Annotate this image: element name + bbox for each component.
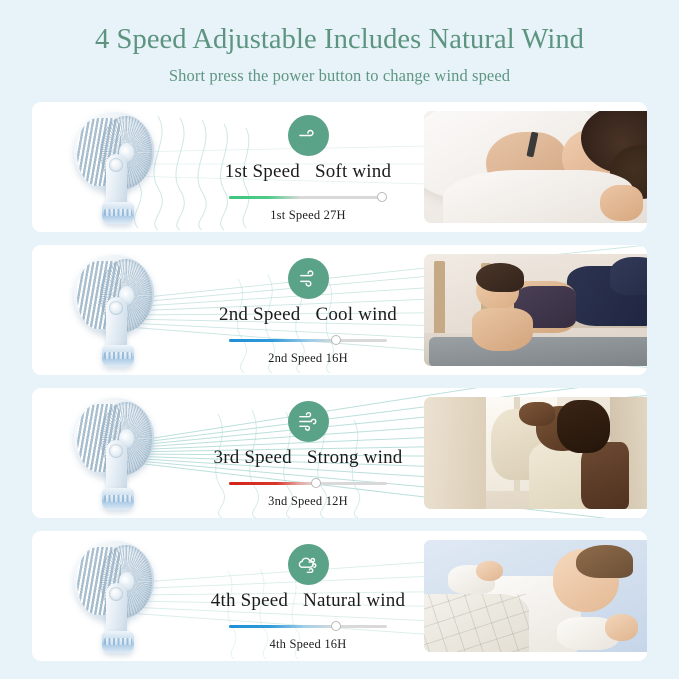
lifestyle-photo-baby-sleeping (424, 540, 647, 652)
speed-labels-3: 3rd Speed Strong wind (214, 447, 403, 469)
lifestyle-photo-wrap-3 (424, 388, 647, 518)
slider-knob[interactable] (377, 192, 387, 202)
fan-image-1 (32, 102, 192, 232)
runtime-caption-1: 1st Speed 27H (270, 208, 346, 223)
lifestyle-photo-wrap-1 (424, 102, 647, 232)
speed-info-2: 2nd Speed Cool wind 2nd Speed 16H (192, 245, 424, 375)
slider-fill (229, 339, 336, 342)
speed-info-1: 1st Speed Soft wind 1st Speed 27H (192, 102, 424, 232)
wind-type-label: Natural wind (303, 590, 405, 612)
slider-knob[interactable] (331, 621, 341, 631)
wind-triple-line-icon (288, 401, 329, 442)
fan-illustration (68, 253, 164, 369)
runtime-caption-2: 2nd Speed 16H (268, 351, 348, 366)
speed-info-3: 3rd Speed Strong wind 3nd Speed 12H (192, 388, 424, 518)
speed-card-list: 1st Speed Soft wind 1st Speed 27H (0, 102, 679, 661)
wind-type-label: Strong wind (307, 447, 403, 469)
product-feature-page: 4 Speed Adjustable Includes Natural Wind… (0, 0, 679, 679)
speed-info-4: 4th Speed Natural wind 4th Speed 16H (192, 531, 424, 661)
speed-level-label: 4th Speed (211, 590, 288, 612)
fan-illustration (68, 396, 164, 512)
page-title: 4 Speed Adjustable Includes Natural Wind (0, 24, 679, 55)
speed-slider-1[interactable] (229, 192, 387, 202)
speed-card-2: 2nd Speed Cool wind 2nd Speed 16H (32, 245, 647, 375)
speed-level-label: 2nd Speed (219, 304, 300, 326)
slider-fill (229, 482, 316, 485)
lifestyle-photo-woman-sleeping (424, 111, 647, 223)
lifestyle-photo-woman-wiping-forehead (424, 397, 647, 509)
speed-level-label: 1st Speed (225, 161, 300, 183)
fan-illustration (68, 110, 164, 226)
fan-base (102, 202, 134, 224)
lifestyle-photo-woman-plank (424, 254, 647, 366)
runtime-caption-3: 3nd Speed 12H (268, 494, 348, 509)
wind-double-line-icon (288, 258, 329, 299)
runtime-caption-4: 4th Speed 16H (270, 637, 347, 652)
lifestyle-photo-wrap-2 (424, 245, 647, 375)
fan-image-4 (32, 531, 192, 661)
wind-type-label: Cool wind (315, 304, 397, 326)
fan-base (102, 345, 134, 367)
slider-knob[interactable] (311, 478, 321, 488)
slider-fill (229, 625, 336, 628)
speed-labels-1: 1st Speed Soft wind (225, 161, 391, 183)
speed-slider-3[interactable] (229, 478, 387, 488)
speed-card-4: 4th Speed Natural wind 4th Speed 16H (32, 531, 647, 661)
page-subtitle: Short press the power button to change w… (0, 66, 679, 86)
slider-knob[interactable] (331, 335, 341, 345)
speed-slider-4[interactable] (229, 621, 387, 631)
fan-illustration (68, 539, 164, 655)
fan-image-2 (32, 245, 192, 375)
fan-image-3 (32, 388, 192, 518)
speed-card-1: 1st Speed Soft wind 1st Speed 27H (32, 102, 647, 232)
speed-labels-4: 4th Speed Natural wind (211, 590, 405, 612)
fan-base (102, 488, 134, 510)
speed-slider-2[interactable] (229, 335, 387, 345)
wind-single-line-icon (288, 115, 329, 156)
page-header: 4 Speed Adjustable Includes Natural Wind… (0, 0, 679, 86)
speed-labels-2: 2nd Speed Cool wind (219, 304, 397, 326)
slider-fill (229, 196, 300, 199)
cloud-wind-icon (288, 544, 329, 585)
speed-level-label: 3rd Speed (214, 447, 292, 469)
speed-card-3: 3rd Speed Strong wind 3nd Speed 12H (32, 388, 647, 518)
fan-base (102, 631, 134, 653)
lifestyle-photo-wrap-4 (424, 531, 647, 661)
wind-type-label: Soft wind (315, 161, 391, 183)
